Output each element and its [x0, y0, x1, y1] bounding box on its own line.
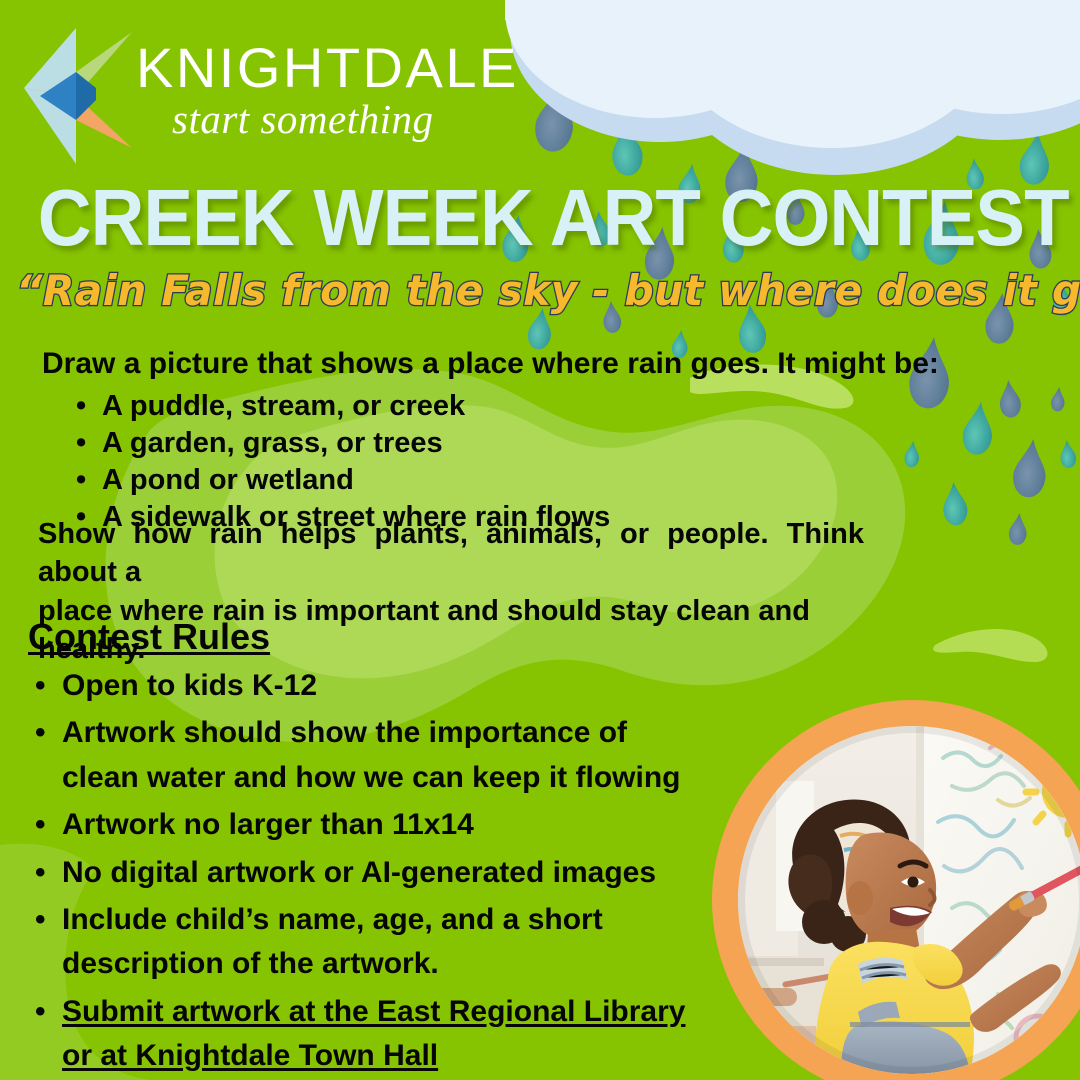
logo-name: KNIGHTDALE — [136, 40, 536, 96]
bullet-glyph: • — [76, 462, 86, 499]
poster-canvas: KNIGHTDALE start something CREEK WEEK AR… — [0, 0, 1080, 1080]
rule-item: •Include child’s name, age, and a short … — [30, 898, 710, 987]
bullet-glyph: • — [35, 664, 46, 708]
list-item-label: A pond or wetland — [102, 464, 354, 496]
page-subtitle: “Rain Falls from the sky - but where doe… — [16, 270, 1064, 312]
bullet-glyph: • — [35, 990, 46, 1034]
rule-item: •No digital artwork or AI-generated imag… — [30, 851, 710, 895]
bullet-glyph: • — [35, 851, 46, 895]
photo-ring — [712, 700, 1080, 1080]
page-title: CREEK WEEK ART CONTEST — [38, 178, 1042, 258]
list-item-label: A garden, grass, or trees — [102, 427, 443, 459]
knightdale-k-arrow-logo — [18, 26, 138, 166]
prompt-paragraph-line-1: Show how rain helps plants, animals, or … — [38, 515, 864, 592]
rule-item-label: Include child’s name, age, and a short d… — [62, 903, 603, 980]
bullet-glyph: • — [76, 425, 86, 462]
photo-frame — [738, 726, 1080, 1074]
rules-list: •Open to kids K-12 •Artwork should show … — [30, 664, 710, 1080]
list-item: •A garden, grass, or trees — [68, 425, 708, 462]
bullet-glyph: • — [76, 388, 86, 425]
logo-wordmark: KNIGHTDALE start something — [136, 40, 536, 141]
rule-item-label: Open to kids K-12 — [62, 669, 317, 702]
logo-tagline: start something — [172, 98, 536, 141]
bullet-glyph: • — [35, 898, 46, 942]
rule-item-submission[interactable]: •Submit artwork at the East Regional Lib… — [30, 990, 710, 1079]
rule-item-label: No digital artwork or AI-generated image… — [62, 856, 656, 889]
girl-painting-at-easel-photo — [738, 726, 1080, 1074]
rule-item: •Artwork should show the importance of c… — [30, 711, 710, 800]
list-item: •A puddle, stream, or creek — [68, 388, 708, 425]
list-item: •A pond or wetland — [68, 462, 708, 499]
knightdale-logo: KNIGHTDALE start something — [18, 18, 538, 168]
prompt-intro: Draw a picture that shows a place where … — [42, 348, 939, 380]
rule-item-label: Artwork no larger than 11x14 — [62, 808, 474, 841]
rule-item-label: Submit artwork at the East Regional Libr… — [62, 995, 685, 1072]
bullet-glyph: • — [35, 711, 46, 755]
rule-item: •Artwork no larger than 11x14 — [30, 803, 710, 847]
bullet-glyph: • — [35, 803, 46, 847]
rule-item: •Open to kids K-12 — [30, 664, 710, 708]
list-item-label: A puddle, stream, or creek — [102, 390, 465, 422]
rule-item-label: Artwork should show the importance of cl… — [62, 716, 680, 793]
rules-heading: Contest Rules — [28, 616, 270, 658]
